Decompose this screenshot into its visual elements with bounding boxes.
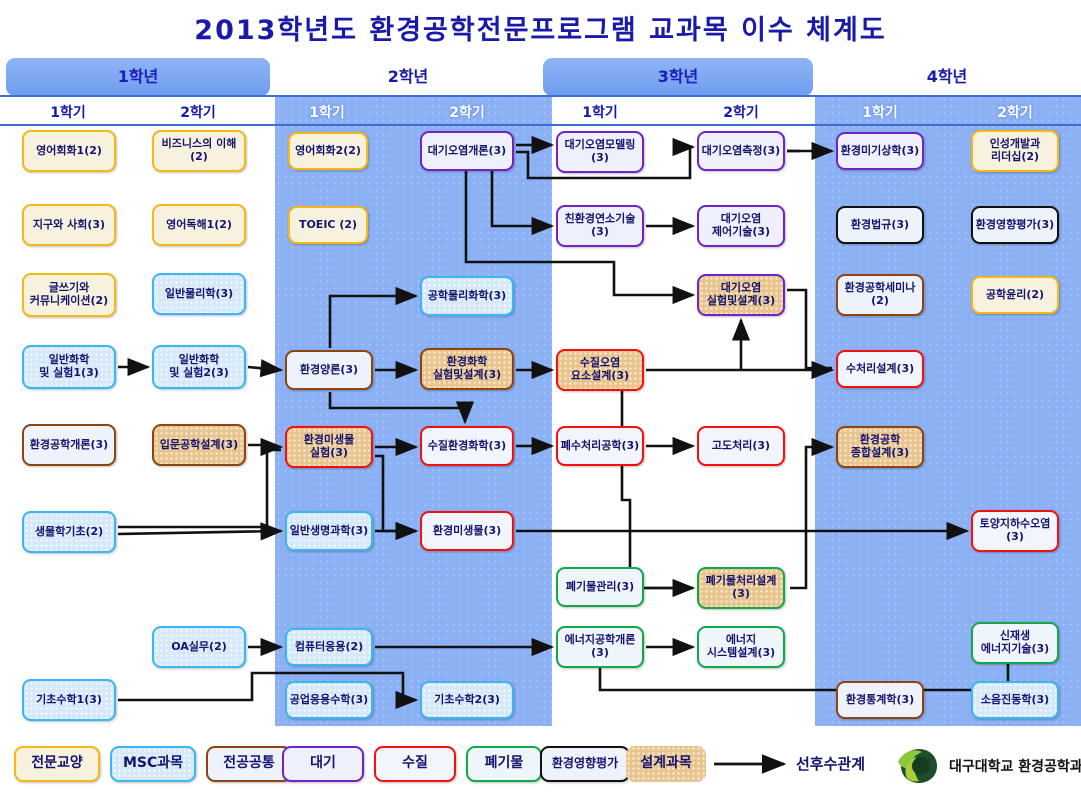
course-label: 환경공학 종합설계(3) — [851, 434, 909, 459]
course-label: 토양지하수오염 (3) — [980, 518, 1051, 543]
legend-arrow-label: 선후수관계 — [796, 746, 865, 782]
course-label: OA실무(2) — [171, 641, 227, 654]
course-label: 대기오염 실험및설계(3) — [707, 282, 775, 307]
legend-arrow-icon — [712, 754, 792, 774]
course-label: 폐기물처리설계 (3) — [706, 575, 777, 600]
course-label: 비즈니스의 이해 (2) — [162, 138, 237, 163]
course-label: 수처리설계(3) — [846, 363, 914, 376]
course-node-writing[interactable]: 글쓰기와 커뮤니케이션(2) — [22, 273, 116, 317]
course-label: 입문공학설계(3) — [160, 439, 238, 452]
course-label: 영어회화1(2) — [36, 145, 102, 158]
course-node-energyint[interactable]: 에너지공학개론 (3) — [556, 626, 644, 668]
header-divider-top — [0, 95, 1081, 97]
course-label: 폐수처리공학(3) — [561, 440, 639, 453]
course-label: 공업응용수학(3) — [290, 694, 368, 707]
course-node-soilgw[interactable]: 토양지하수오염 (3) — [971, 510, 1059, 552]
page-title: 2013학년도 환경공학전문프로그램 교과목 이수 체계도 — [0, 8, 1081, 47]
course-label: 공학물리화학(3) — [428, 290, 506, 303]
semester-label-7: 1학기 — [833, 100, 927, 126]
course-label: 환경법규(3) — [851, 219, 909, 232]
course-label: 폐기물관리(3) — [566, 581, 634, 594]
course-label: 영어독해1(2) — [166, 219, 232, 232]
course-node-greencomb[interactable]: 친환경연소기술 (3) — [556, 205, 644, 247]
course-node-energysys[interactable]: 에너지 시스템설계(3) — [697, 626, 785, 668]
course-node-envintro[interactable]: 환경공학개론(3) — [22, 424, 116, 466]
course-node-capstone[interactable]: 환경공학 종합설계(3) — [836, 426, 924, 468]
course-node-envbase[interactable]: 환경양론(3) — [285, 350, 373, 390]
course-label: 일반생명과학(3) — [290, 525, 368, 538]
course-label: 일반화학 및 실험1(3) — [39, 354, 99, 379]
course-node-math2[interactable]: 기초수학2(3) — [420, 681, 514, 719]
course-node-introdes[interactable]: 입문공학설계(3) — [152, 424, 246, 466]
course-node-indmath[interactable]: 공업응용수학(3) — [285, 681, 373, 719]
course-label: 에너지공학개론 (3) — [565, 634, 636, 659]
course-label: 수질오염 요소설계(3) — [571, 357, 629, 382]
course-label: 대기오염개론(3) — [428, 145, 506, 158]
semester-label-1: 1학기 — [18, 100, 118, 126]
course-node-chem2[interactable]: 일반화학 및 실험2(3) — [152, 345, 246, 389]
course-label: 환경영향평가(3) — [976, 219, 1054, 232]
course-node-airintro[interactable]: 대기오염개론(3) — [420, 131, 514, 171]
course-label: 환경통계학(3) — [846, 694, 914, 707]
semester-label-5: 1학기 — [553, 100, 647, 126]
course-node-noise[interactable]: 소음진동학(3) — [971, 681, 1059, 719]
course-label: 에너지 시스템설계(3) — [707, 634, 775, 659]
semester-label-4: 2학기 — [422, 100, 512, 126]
legend-item-4: 수질 — [374, 746, 456, 782]
course-node-envlaw[interactable]: 환경법규(3) — [836, 206, 924, 244]
semester-label-8: 2학기 — [968, 100, 1062, 126]
legend-item-2: 전공공통 — [206, 746, 292, 782]
course-node-advtreat[interactable]: 고도처리(3) — [697, 426, 785, 466]
course-label: 영어회화2(2) — [295, 145, 361, 158]
year-header-1: 1학년 — [6, 58, 270, 96]
year-header-4: 4학년 — [816, 58, 1078, 96]
course-label: 수질환경화학(3) — [428, 440, 506, 453]
course-label: 일반화학 및 실험2(3) — [169, 354, 229, 379]
course-node-waterchem[interactable]: 수질환경화학(3) — [420, 426, 514, 466]
course-node-eia[interactable]: 환경영향평가(3) — [971, 206, 1059, 244]
semester-label-6: 2학기 — [694, 100, 788, 126]
course-node-chem1[interactable]: 일반화학 및 실험1(3) — [22, 345, 116, 389]
course-label: 컴퓨터응용(2) — [295, 641, 363, 654]
university-logo-icon — [895, 748, 941, 784]
course-node-eng1[interactable]: 영어회화1(2) — [22, 130, 116, 172]
legend-item-3: 대기 — [282, 746, 364, 782]
course-node-oa[interactable]: OA실무(2) — [152, 626, 246, 668]
course-label: 공학윤리(2) — [986, 289, 1044, 302]
course-node-renewable[interactable]: 신재생 에너지기술(3) — [971, 622, 1059, 664]
course-node-eng2[interactable]: 영어회화2(2) — [288, 132, 368, 170]
course-node-ethics[interactable]: 공학윤리(2) — [971, 276, 1059, 314]
course-node-biobasic[interactable]: 생물학기초(2) — [22, 511, 116, 553]
course-label: TOEIC (2) — [299, 219, 357, 232]
course-label: 친환경연소기술 (3) — [565, 213, 636, 238]
course-node-envmicro[interactable]: 환경미생물(3) — [420, 511, 514, 551]
course-label: 소음진동학(3) — [981, 694, 1049, 707]
course-node-wastemgmt[interactable]: 폐기물관리(3) — [556, 567, 644, 607]
course-label: 지구와 사회(3) — [33, 219, 105, 232]
course-node-airctrl[interactable]: 대기오염 제어기술(3) — [697, 205, 785, 247]
course-label: 환경공학개론(3) — [30, 439, 108, 452]
course-node-seminar[interactable]: 환경공학세미나 (2) — [836, 274, 924, 316]
course-node-airmeasure[interactable]: 대기오염측정(3) — [697, 131, 785, 171]
course-node-waterdes2[interactable]: 수처리설계(3) — [836, 350, 924, 388]
course-node-airmodel[interactable]: 대기오염모델링 (3) — [556, 131, 644, 173]
course-label: 고도처리(3) — [712, 440, 770, 453]
course-node-engphys[interactable]: 공학물리화학(3) — [420, 276, 514, 316]
course-label: 환경미기상학(3) — [841, 145, 919, 158]
course-label: 환경미생물 실험(3) — [304, 434, 355, 459]
course-node-phys[interactable]: 일반물리학(3) — [152, 273, 246, 315]
course-label: 기초수학1(3) — [36, 694, 102, 707]
legend-item-7: 설계과목 — [626, 746, 706, 782]
course-node-biz[interactable]: 비즈니스의 이해 (2) — [152, 130, 246, 172]
year-header-2: 2학년 — [276, 58, 540, 96]
course-node-hrd[interactable]: 인성개발과 리더십(2) — [971, 130, 1059, 172]
semester-label-3: 1학기 — [282, 100, 372, 126]
legend-item-0: 전문교양 — [14, 746, 100, 782]
course-label: 일반물리학(3) — [165, 288, 233, 301]
course-label: 생물학기초(2) — [35, 526, 103, 539]
header-divider-bottom — [0, 124, 1081, 126]
course-label: 환경미생물(3) — [433, 525, 501, 538]
course-label: 환경화학 실험및설계(3) — [433, 356, 501, 381]
course-label: 대기오염측정(3) — [702, 145, 780, 158]
course-label: 인성개발과 리더십(2) — [990, 138, 1041, 163]
course-label: 기초수학2(3) — [434, 694, 500, 707]
course-node-envstat[interactable]: 환경통계학(3) — [836, 681, 924, 719]
legend-item-5: 폐기물 — [466, 746, 542, 782]
course-node-waterdes[interactable]: 수질오염 요소설계(3) — [556, 349, 644, 391]
course-node-wastedes[interactable]: 폐기물처리설계 (3) — [697, 567, 785, 609]
course-node-envchemlab[interactable]: 환경화학 실험및설계(3) — [420, 348, 514, 390]
course-node-earth[interactable]: 지구와 사회(3) — [22, 204, 116, 246]
course-node-airlabdes[interactable]: 대기오염 실험및설계(3) — [697, 274, 785, 316]
course-label: 환경공학세미나 (2) — [845, 282, 916, 307]
course-node-micromet[interactable]: 환경미기상학(3) — [836, 132, 924, 170]
course-node-wastewater[interactable]: 폐수처리공학(3) — [556, 426, 644, 466]
course-node-math1[interactable]: 기초수학1(3) — [22, 679, 116, 721]
course-node-toeic[interactable]: TOEIC (2) — [288, 206, 368, 244]
year-header-3: 3학년 — [543, 58, 813, 96]
course-label: 대기오염 제어기술(3) — [712, 213, 770, 238]
course-label: 환경양론(3) — [300, 364, 358, 377]
course-node-computer[interactable]: 컴퓨터응용(2) — [285, 628, 373, 666]
semester-label-2: 2학기 — [148, 100, 248, 126]
course-label: 대기오염모델링 (3) — [565, 139, 636, 164]
course-label: 글쓰기와 커뮤니케이션(2) — [30, 282, 108, 307]
university-name: 대구대학교 환경공학과 — [949, 756, 1081, 776]
course-node-genlife[interactable]: 일반생명과학(3) — [285, 511, 373, 551]
legend-item-6: 환경영향평가 — [540, 746, 630, 782]
legend: 전문교양MSC과목전공공통대기수질폐기물환경영향평가설계과목 선후수관계 대구대… — [0, 736, 1081, 794]
legend-item-1: MSC과목 — [110, 746, 196, 782]
course-label: 신재생 에너지기술(3) — [981, 630, 1049, 655]
university-mark: 대구대학교 환경공학과 — [895, 748, 1081, 784]
course-node-engread[interactable]: 영어독해1(2) — [152, 204, 246, 246]
course-node-envmicrolab[interactable]: 환경미생물 실험(3) — [285, 426, 373, 468]
